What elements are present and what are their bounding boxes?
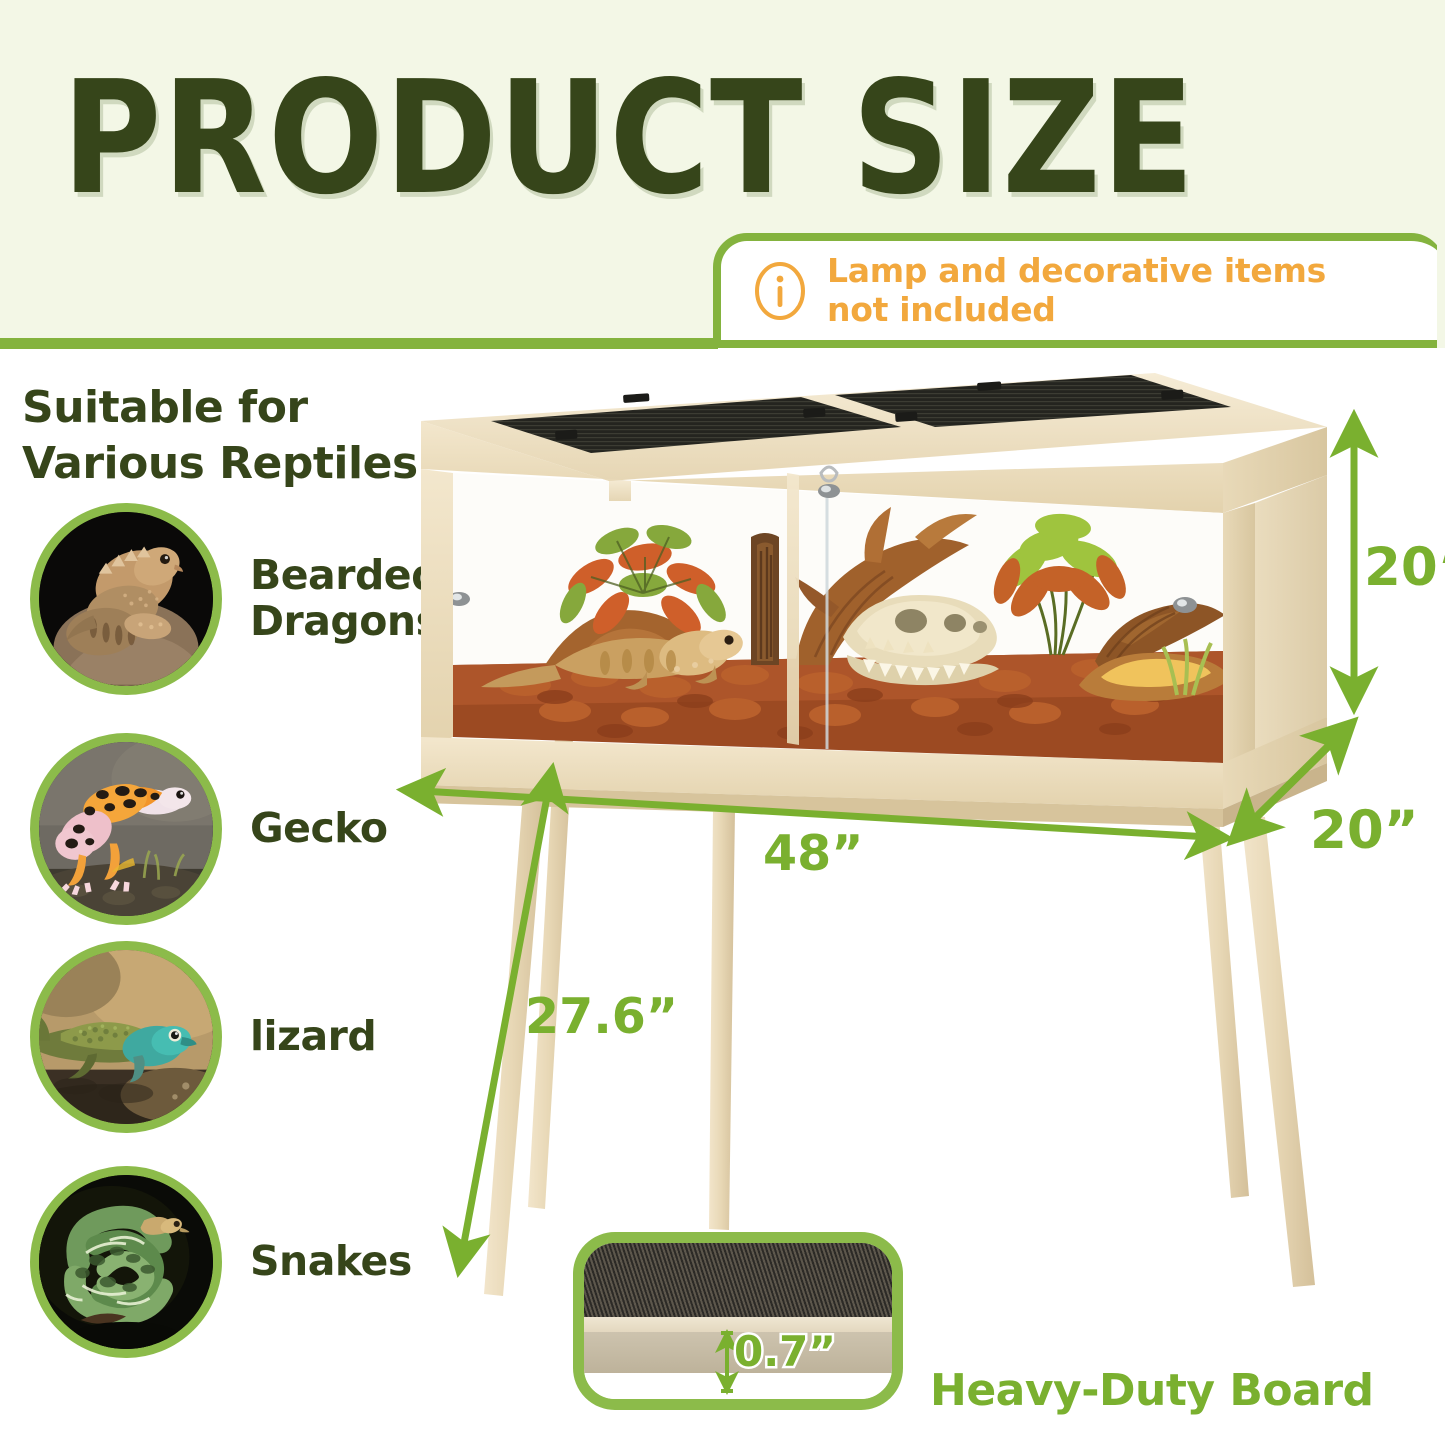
terrarium-leg-front-left <box>484 795 545 1296</box>
infographic-canvas: PRODUCT SIZE Lamp and decorative items n… <box>0 0 1445 1434</box>
terrarium-leg-front-right <box>1241 815 1315 1287</box>
terrarium-leg-front-middle <box>709 809 735 1230</box>
green-lizard-photo <box>30 941 222 1133</box>
dimension-label-width: 48” <box>763 825 863 882</box>
heavy-duty-board-detail: 0.7” <box>573 1232 903 1410</box>
notice-text-block: Lamp and decorative items not included <box>827 252 1326 330</box>
green-snake-photo <box>30 1166 222 1358</box>
board-thickness-label: 0.7” <box>734 1327 836 1376</box>
notice-right-edge-fill <box>1437 233 1445 348</box>
decor-bark-log <box>751 533 779 665</box>
heavy-duty-board-caption: Heavy-Duty Board <box>930 1365 1374 1416</box>
leopard-gecko-photo <box>30 733 222 925</box>
reptile-item-gecko: Gecko <box>30 733 388 925</box>
sidebar-heading-line-1: Suitable for <box>22 380 422 436</box>
sidebar-heading: Suitable for Various Reptiles <box>22 380 422 493</box>
info-circle-icon <box>753 260 807 322</box>
terrarium-leg-back-right <box>1195 765 1249 1198</box>
page-title: PRODUCT SIZE <box>62 48 1445 219</box>
not-included-notice: Lamp and decorative items not included <box>713 233 1445 348</box>
terrarium-interior <box>445 465 1235 775</box>
reptile-label-gecko: Gecko <box>250 806 388 852</box>
terrarium-center-post <box>787 473 799 745</box>
dimension-label-height: 20” <box>1364 537 1445 598</box>
wooden-reptile-terrarium <box>395 365 1395 1365</box>
board-mesh-surface <box>582 1241 903 1319</box>
reptile-item-bearded-dragons: Bearded Dragons <box>30 503 440 695</box>
bearded-dragon-photo <box>30 503 222 695</box>
terrarium-post-rear-corner <box>609 481 631 501</box>
reptile-item-snakes: Snakes <box>30 1166 412 1358</box>
reptile-label-snakes: Snakes <box>250 1239 412 1285</box>
sidebar-heading-line-2: Various Reptiles <box>22 436 422 492</box>
reptile-item-lizard: lizard <box>30 941 376 1133</box>
dimension-label-leg-height: 27.6” <box>525 988 678 1045</box>
notice-line-2: not included <box>827 291 1326 330</box>
terrarium-post-front-right <box>1223 503 1255 763</box>
terrarium-panel-right-side <box>1255 475 1327 761</box>
dimension-label-depth: 20” <box>1310 800 1419 861</box>
board-underside <box>582 1373 903 1410</box>
header-divider-rule <box>0 338 718 349</box>
glass-door-knob-right <box>1173 597 1197 613</box>
notice-line-1: Lamp and decorative items <box>827 252 1326 291</box>
terrarium-post-front-left <box>421 469 453 751</box>
reptile-label-lizard: lizard <box>250 1014 376 1060</box>
